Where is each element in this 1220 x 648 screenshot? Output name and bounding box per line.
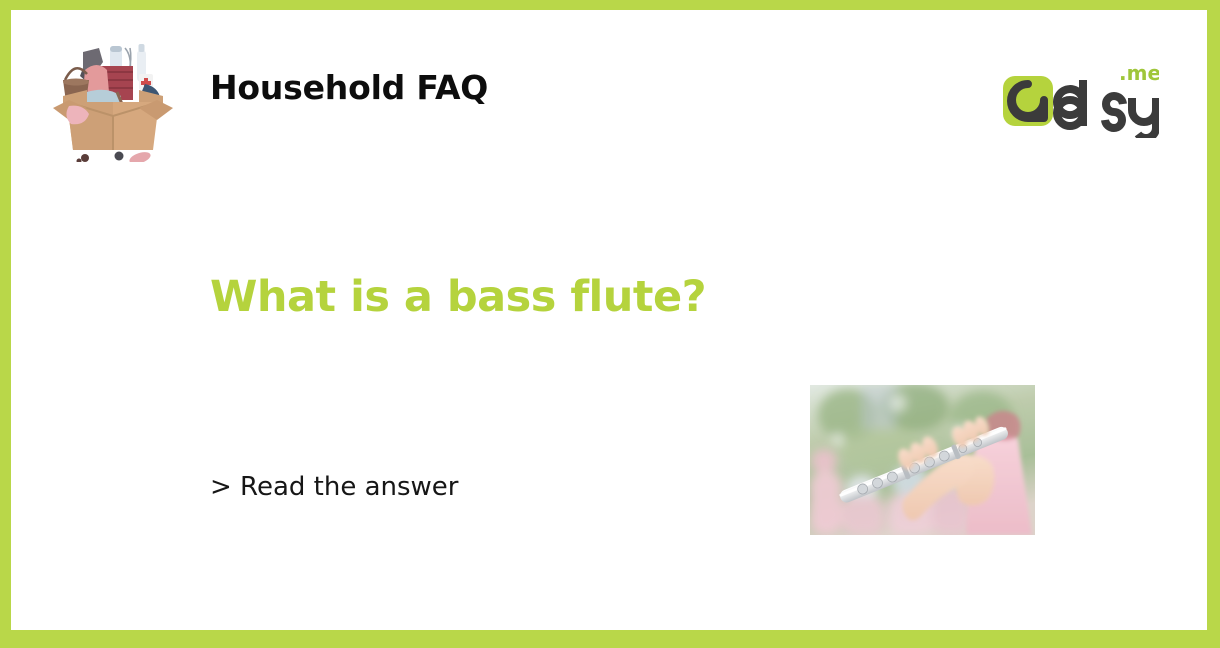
logo-wordmark xyxy=(1057,80,1083,126)
question-heading: What is a bass flute? xyxy=(210,272,706,322)
card-header: Household FAQ xyxy=(11,10,1207,175)
household-box-illustration xyxy=(47,32,179,162)
logo-tld-text: .me xyxy=(1119,61,1159,85)
adsy-logo[interactable]: .me xyxy=(999,58,1159,138)
card-canvas: Household FAQ xyxy=(11,10,1207,630)
page-title: Household FAQ xyxy=(210,68,488,107)
read-the-answer-link[interactable]: > Read the answer xyxy=(210,472,459,502)
logo-mark-icon xyxy=(1003,76,1053,126)
faq-card: Household FAQ xyxy=(0,0,1220,648)
flute-player-photo xyxy=(810,385,1035,535)
